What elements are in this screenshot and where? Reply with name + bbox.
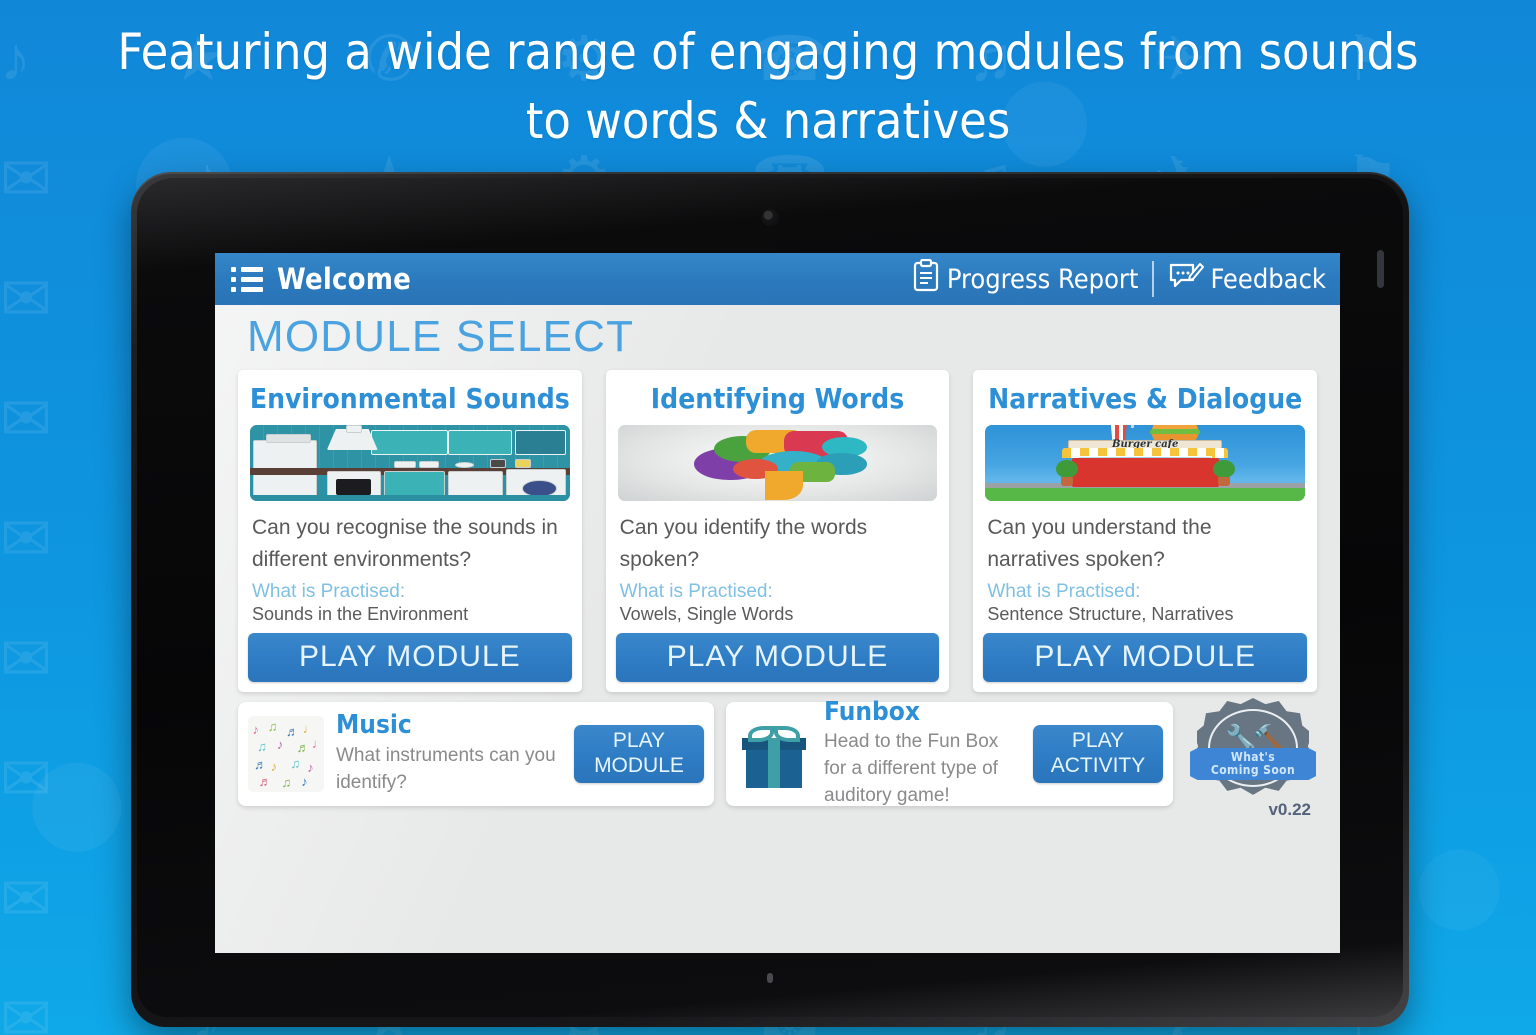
badge-area: 🔧🔨 What's Coming Soon v0.22 [1185,702,1317,806]
side-sensor-icon [1377,250,1384,288]
tablet-bezel: Welcome Progress Report [137,178,1403,1017]
coming-soon-badge[interactable]: 🔧🔨 What's Coming Soon [1197,698,1309,800]
mini-card-title: Music [336,711,558,740]
home-indicator-icon [767,973,773,983]
appbar-divider [1152,261,1154,297]
module-card-practised-value: Sentence Structure, Narratives [973,603,1317,633]
app-top-bar: Welcome Progress Report [215,253,1340,305]
speech-bubble-pencil-icon [1168,260,1204,299]
module-card-practised-value: Sounds in the Environment [238,603,582,633]
burger-cafe-illustration: Burger cafe [985,425,1305,501]
play-module-button[interactable]: PLAY MODULE [574,725,704,783]
mini-card-music[interactable]: ♪ ♫ ♬ ♩ ♫ ♪ ♬ ♩ ♬ ♪ ♫ ♪ ♬ [238,702,714,806]
module-card-practised-label: What is Practised: [238,575,582,603]
feedback-label: Feedback [1210,264,1326,295]
module-card-practised-value: Vowels, Single Words [606,603,950,633]
promo-headline: Featuring a wide range of engaging modul… [0,18,1536,156]
feedback-button[interactable]: Feedback [1168,260,1326,299]
mini-card-text: Music What instruments can you identify? [336,711,562,796]
mini-card-description: What instruments can you identify? [336,743,558,797]
play-module-button[interactable]: PLAY MODULE [983,633,1307,682]
play-module-button[interactable]: PLAY MODULE [248,633,572,682]
module-card-description: Can you understand the narratives spoken… [973,501,1317,574]
module-card-narratives-dialogue[interactable]: Narratives & Dialogue Burger cafe [973,370,1317,692]
badge-ribbon-line2: Coming Soon [1190,764,1316,777]
mini-card-text: Funbox Head to the Fun Box for a differe… [824,698,1021,810]
clipboard-icon [911,259,941,300]
module-card-practised-label: What is Practised: [973,575,1317,603]
app-title: Welcome [277,262,411,296]
list-menu-icon[interactable] [227,262,265,296]
module-select-page: MODULE SELECT Environmental Sounds [215,305,1340,953]
module-card-identifying-words[interactable]: Identifying Words [606,370,950,692]
module-card-practised-label: What is Practised: [606,575,950,603]
progress-report-button[interactable]: Progress Report [911,259,1139,300]
module-card-description: Can you recognise the sounds in differen… [238,501,582,574]
module-card-description: Can you identify the words spoken? [606,501,950,574]
module-card-title: Identifying Words [606,370,950,425]
page-title: MODULE SELECT [231,311,1324,370]
speech-bubbles-illustration [618,425,938,501]
module-card-title: Environmental Sounds [238,370,582,425]
music-notes-icon: ♪ ♫ ♬ ♩ ♫ ♪ ♬ ♩ ♬ ♪ ♫ ♪ ♬ [248,716,324,792]
module-card-title: Narratives & Dialogue [973,370,1317,425]
tablet-device-frame: Welcome Progress Report [131,172,1409,1027]
version-label: v0.22 [1268,800,1311,820]
progress-report-label: Progress Report [947,264,1139,295]
mini-modules-row: ♪ ♫ ♬ ♩ ♫ ♪ ♬ ♩ ♬ ♪ ♫ ♪ ♬ [231,692,1324,806]
play-activity-button[interactable]: PLAY ACTIVITY [1033,725,1163,783]
kitchen-illustration [250,425,570,501]
mini-card-description: Head to the Fun Box for a different type… [824,729,1017,810]
module-card-environmental-sounds[interactable]: Environmental Sounds [238,370,582,692]
camera-icon [763,210,778,225]
mini-card-title: Funbox [824,698,1017,727]
module-cards-row: Environmental Sounds [231,370,1324,692]
app-screen: Welcome Progress Report [215,253,1340,953]
gift-box-icon [736,716,812,792]
badge-ribbon: What's Coming Soon [1190,748,1316,780]
mini-card-funbox[interactable]: Funbox Head to the Fun Box for a differe… [726,702,1173,806]
play-module-button[interactable]: PLAY MODULE [616,633,940,682]
